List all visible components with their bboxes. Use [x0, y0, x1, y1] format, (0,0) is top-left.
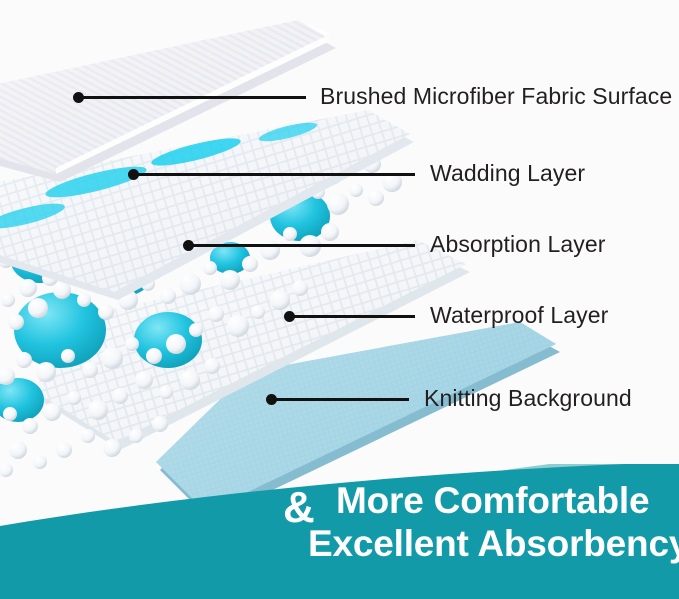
- leader-line-absorption-layer: [187, 244, 415, 247]
- callout-label-absorption-layer: Absorption Layer: [430, 233, 605, 256]
- banner-text-group: & More Comfortable Excellent Absorbency: [0, 464, 679, 599]
- callout-label-waterproof-layer: Waterproof Layer: [430, 304, 608, 327]
- callout-label-brushed-microfiber-fabric-surface: Brushed Microfiber Fabric Surface: [320, 85, 672, 108]
- leader-dot-brushed-microfiber-fabric-surface: [73, 92, 84, 103]
- banner-headline-line-1: More Comfortable: [336, 482, 649, 519]
- product-feature-graphic: Brushed Microfiber Fabric Surface Waddin…: [0, 0, 679, 599]
- leader-dot-waterproof-layer: [284, 311, 295, 322]
- leader-dot-absorption-layer: [183, 240, 194, 251]
- leader-dot-knitting-background: [266, 394, 277, 405]
- leader-line-brushed-microfiber-fabric-surface: [77, 96, 306, 99]
- callout-label-knitting-background: Knitting Background: [424, 387, 632, 410]
- leader-dot-wadding-layer: [128, 169, 139, 180]
- marketing-banner: & More Comfortable Excellent Absorbency: [0, 464, 679, 599]
- leader-line-waterproof-layer: [288, 315, 415, 318]
- leader-line-wadding-layer: [132, 173, 415, 176]
- banner-headline-line-2: Excellent Absorbency: [308, 525, 679, 562]
- leader-line-knitting-background: [270, 398, 409, 401]
- callout-label-wadding-layer: Wadding Layer: [430, 162, 585, 185]
